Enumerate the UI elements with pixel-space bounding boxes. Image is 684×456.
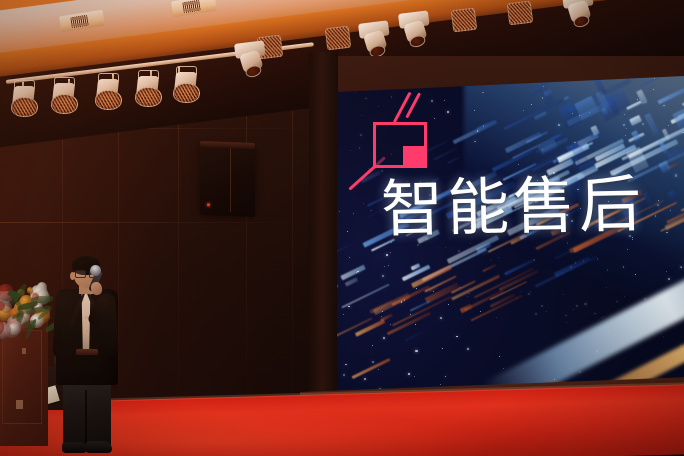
ceiling-light-grille	[507, 1, 534, 26]
jacket-button	[85, 330, 88, 333]
presenter-belt	[76, 349, 98, 355]
presenter-right-shoe	[85, 441, 112, 453]
screen-left-column	[309, 52, 338, 418]
presenter-trousers	[63, 380, 111, 446]
wall-molding	[0, 222, 320, 223]
par-spotlight	[94, 79, 121, 109]
par-spotlight	[50, 83, 77, 113]
par-spotlight	[134, 76, 161, 106]
stage-presentation-photo: 智能售后	[0, 0, 684, 456]
podium-plate	[16, 400, 23, 409]
trouser-seam	[85, 390, 87, 446]
ceiling-light-grille	[325, 26, 352, 51]
par-spotlight	[172, 72, 199, 102]
screen-title: 智能售后	[380, 173, 645, 241]
par-spotlight	[10, 86, 37, 116]
flower	[27, 287, 34, 294]
logo-filled-square	[403, 146, 425, 168]
podium-emblem	[22, 348, 26, 354]
speaker-top	[200, 141, 255, 149]
ceiling-light-grille	[451, 8, 478, 33]
logo-line	[393, 92, 411, 123]
speaker-seam	[230, 148, 231, 212]
flower-arrangement	[0, 282, 48, 348]
wall-mounted-speaker	[200, 145, 255, 217]
presenter	[52, 256, 134, 456]
speaker-power-led	[207, 203, 210, 206]
led-screen: 智能售后	[337, 76, 684, 406]
pink-square-logo	[355, 96, 445, 176]
presenter-left-shoe	[62, 442, 87, 453]
